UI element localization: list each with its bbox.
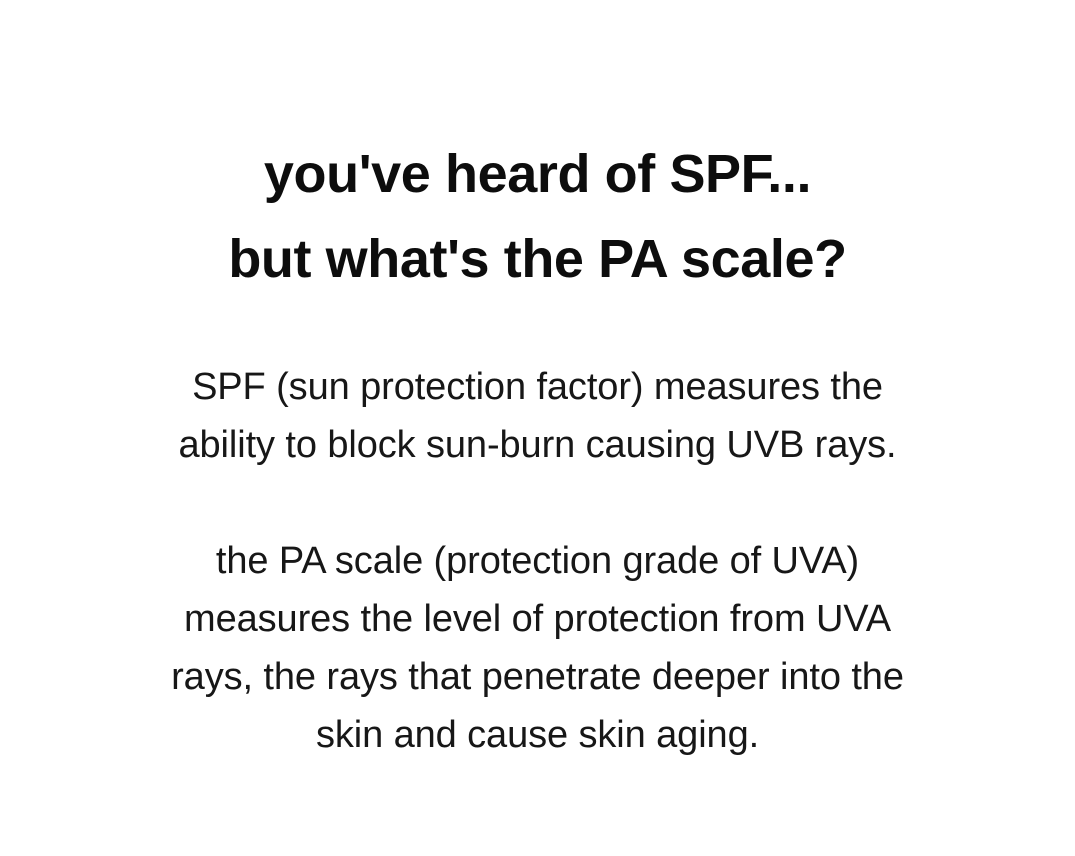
paragraph-pa-scale-line-1: the PA scale (protection grade of UVA)	[0, 532, 1075, 590]
body-text-block: SPF (sun protection factor) measures the…	[0, 358, 1075, 764]
paragraph-spf-line-2: ability to block sun-burn causing UVB ra…	[0, 416, 1075, 474]
paragraph-pa-scale-line-2: measures the level of protection from UV…	[0, 590, 1075, 648]
paragraph-pa-scale: the PA scale (protection grade of UVA) m…	[0, 532, 1075, 764]
paragraph-pa-scale-line-4: skin and cause skin aging.	[0, 706, 1075, 764]
paragraph-spf: SPF (sun protection factor) measures the…	[0, 358, 1075, 474]
headline-line-1: you've heard of SPF...	[0, 132, 1075, 217]
paragraph-spacer	[0, 474, 1075, 532]
page-title: you've heard of SPF... but what's the PA…	[0, 132, 1075, 302]
paragraph-spf-line-1: SPF (sun protection factor) measures the	[0, 358, 1075, 416]
headline-line-2: but what's the PA scale?	[0, 217, 1075, 302]
paragraph-pa-scale-line-3: rays, the rays that penetrate deeper int…	[0, 648, 1075, 706]
info-card: you've heard of SPF... but what's the PA…	[0, 0, 1075, 856]
